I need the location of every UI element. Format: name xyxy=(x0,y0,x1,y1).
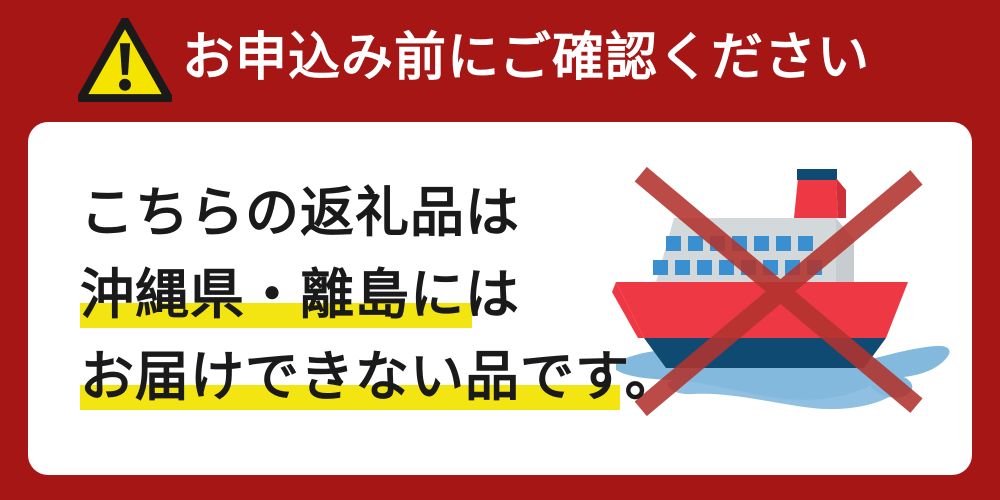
message-line-2-text: 沖縄県・離島には xyxy=(80,265,520,325)
ship-funnel-icon xyxy=(794,169,846,218)
message-line-1: こちらの返礼品は xyxy=(80,172,640,254)
warning-triangle-icon xyxy=(78,18,172,102)
message-line-3: お届けできない品です。 xyxy=(80,336,640,418)
message-line-3-text: お届けできない品です。 xyxy=(80,347,680,407)
page-title: お申込み前にご確認ください xyxy=(182,32,870,84)
notice-message: こちらの返礼品は 沖縄県・離島には お届けできない品です。 xyxy=(80,172,640,418)
banner-header: お申込み前にご確認ください xyxy=(0,0,1000,120)
message-line-1-text: こちらの返礼品は xyxy=(80,183,520,243)
message-line-2: 沖縄県・離島には xyxy=(80,254,640,336)
notice-banner: お申込み前にご確認ください こちらの返礼品は 沖縄県・離島には お届けできない品… xyxy=(0,0,1000,500)
notice-card: こちらの返礼品は 沖縄県・離島には お届けできない品です。 xyxy=(28,122,972,475)
